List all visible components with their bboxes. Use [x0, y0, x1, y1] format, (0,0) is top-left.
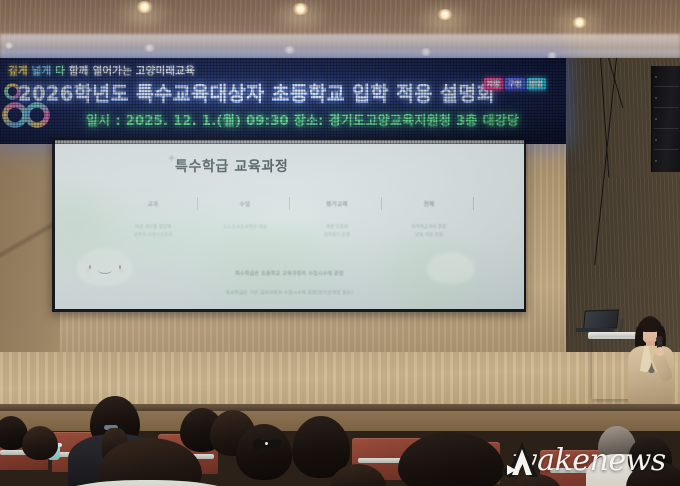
hair-bow	[258, 440, 276, 448]
downlight-icon	[283, 46, 296, 54]
downlight-icon	[143, 44, 156, 52]
auditorium-photo-scene: 깊게 넓게 다 함께 열어가는 고양미래교육 2026학년도 특수교육대상자 초…	[0, 0, 680, 486]
downlight-icon	[136, 1, 153, 13]
line-array-speaker	[651, 66, 680, 172]
downlight-icon	[420, 48, 432, 56]
projection-screen-frame: ✦ 특수학급 교육과정 교과 학생 개인별 발달에 맞추어 교과시간운영 수업 …	[52, 138, 526, 312]
audience-head	[22, 426, 58, 460]
microphone-head-icon	[656, 336, 663, 342]
downlight-icon	[572, 17, 587, 28]
ceiling	[0, 0, 680, 66]
laptop-screen	[583, 309, 619, 329]
projection-screen: ✦ 특수학급 교육과정 교과 학생 개인별 발달에 맞추어 교과시간운영 수업 …	[55, 140, 524, 309]
audience-head	[236, 424, 292, 480]
ceiling-light-glow	[415, 0, 475, 40]
presenter	[626, 316, 678, 408]
awakenews-logo-icon	[502, 440, 544, 480]
led-banner: 깊게 넓게 다 함께 열어가는 고양미래교육 2026학년도 특수교육대상자 초…	[0, 58, 566, 144]
downlight-icon	[4, 42, 14, 49]
screen-vignette	[55, 140, 524, 309]
presenter-hand	[656, 347, 664, 356]
downlight-icon	[437, 9, 453, 20]
led-vignette	[0, 58, 566, 144]
downlight-icon	[292, 3, 309, 15]
